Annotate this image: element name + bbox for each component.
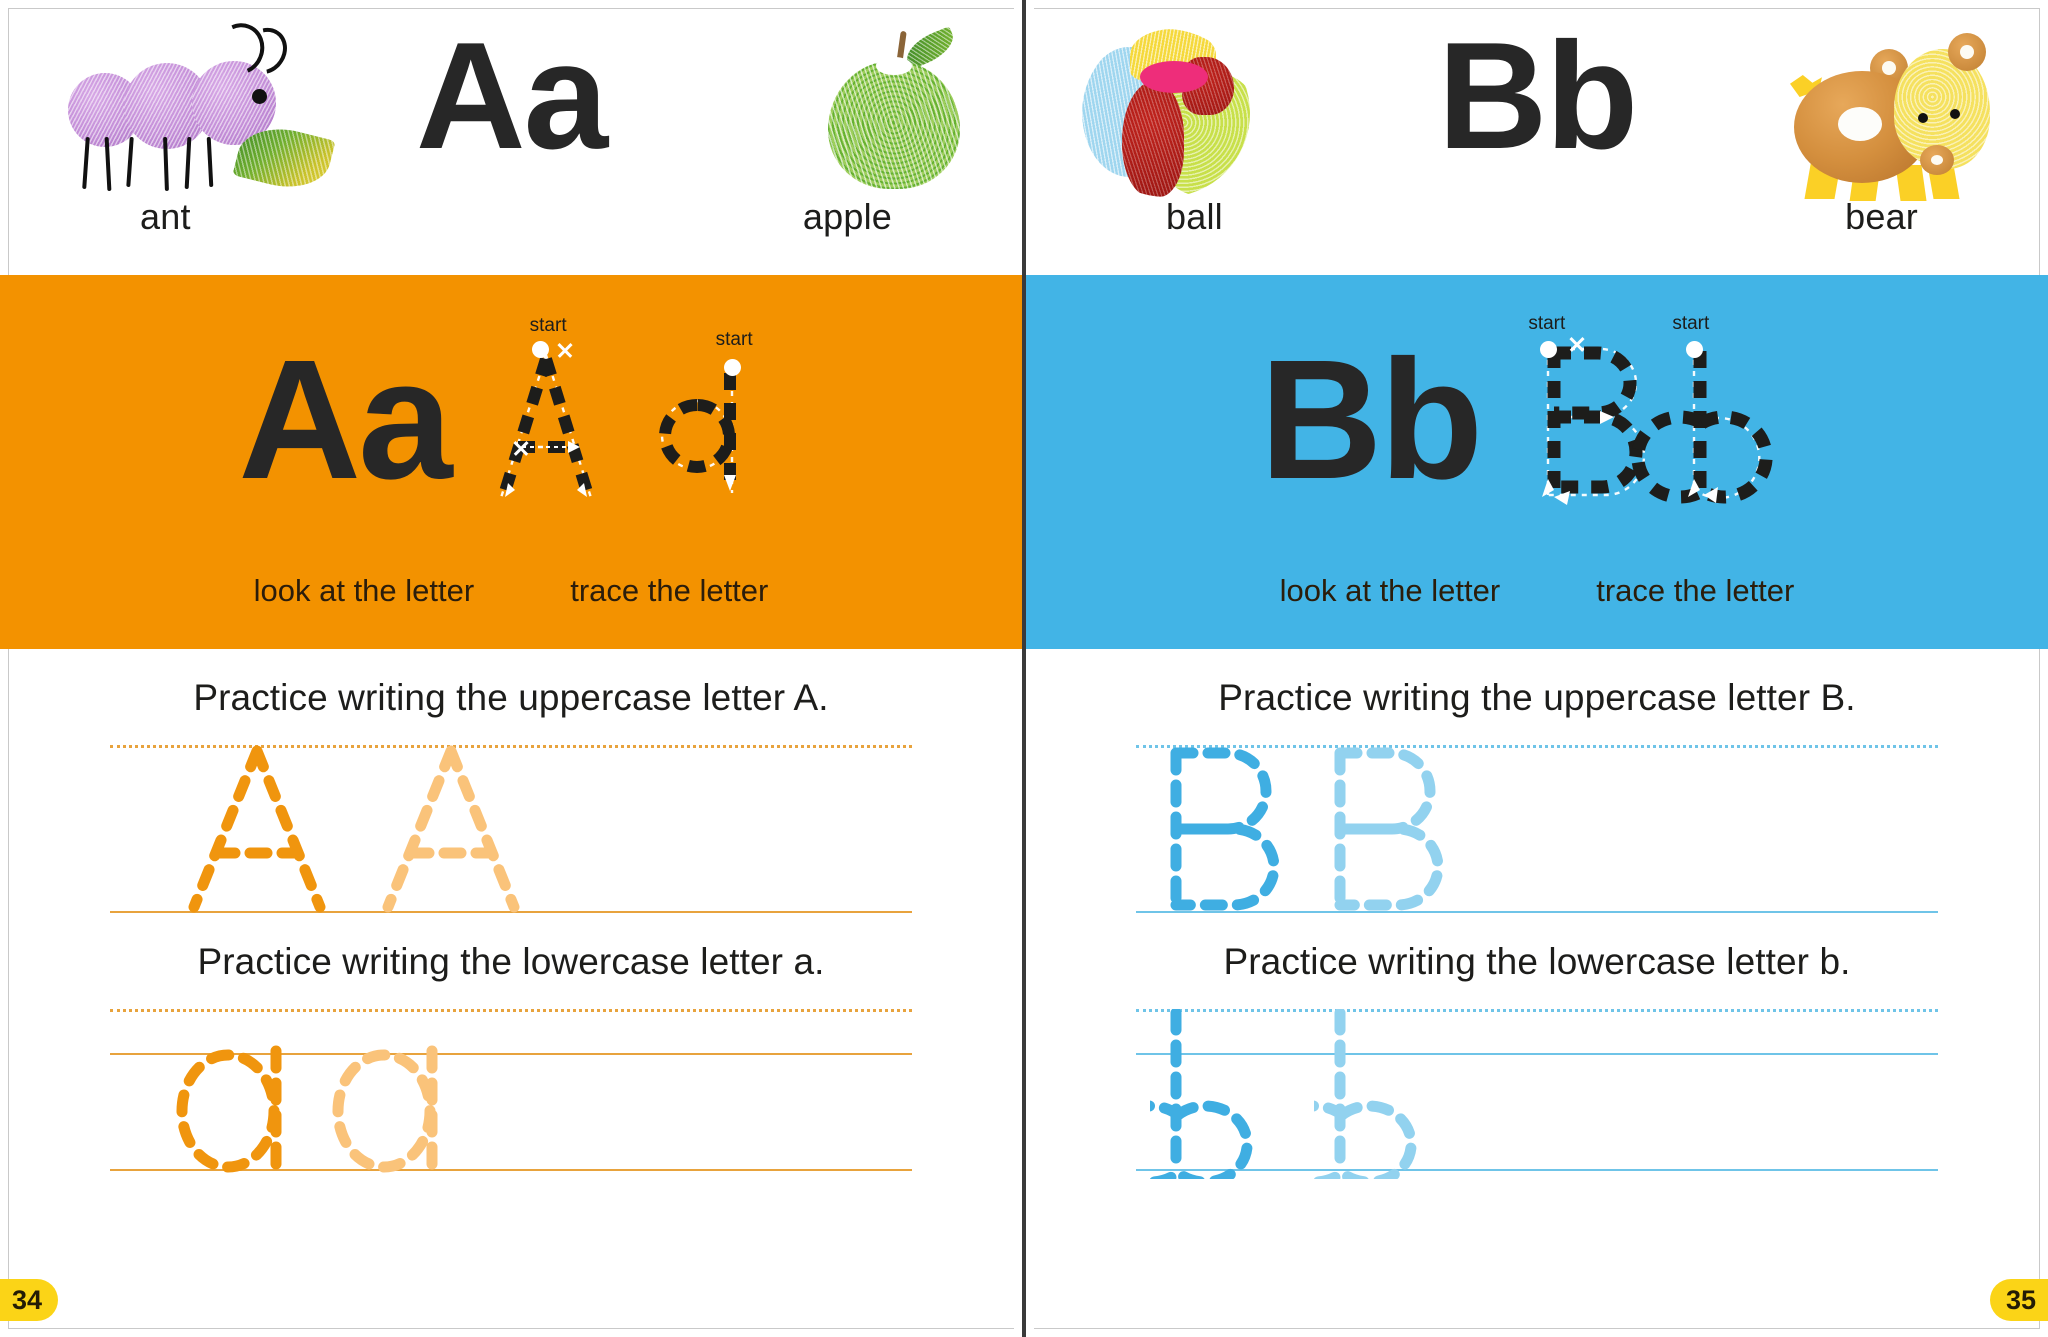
apple-illustration [820, 29, 970, 194]
page-number-badge-left: 34 [0, 1279, 58, 1321]
panel-big-letters-bb: Bb [1260, 335, 1481, 505]
bear-illustration [1790, 27, 2000, 195]
practice-uppercase-a: Practice writing the uppercase letter A. [0, 649, 1022, 913]
x-mark-uppercase-b [1568, 335, 1586, 353]
label-trace-the-letter-bb: trace the letter [1596, 573, 1794, 609]
x-mark-uppercase-a-crossbar [512, 439, 530, 457]
ant-illustration [66, 37, 296, 187]
panel-big-letters-aa: Aa [238, 335, 449, 505]
practice-uppercase-b: Practice writing the uppercase letter B. [1026, 649, 2048, 913]
header-bb: Bb [1026, 0, 2048, 275]
ant-picture [38, 5, 288, 195]
x-mark-uppercase-a [556, 341, 574, 359]
header-letter-bb: Bb [1438, 20, 1637, 172]
start-label-lowercase-b: start [1672, 313, 1709, 335]
caption-apple: apple [803, 196, 892, 238]
practice-lowercase-b: Practice writing the lowercase letter b. [1026, 913, 2048, 1187]
page-left-aa: Aa ant apple Aa [0, 0, 1024, 1337]
trace-glyph-lowercase-b-2[interactable] [1314, 1009, 1464, 1179]
trace-svg-bb [1514, 315, 1814, 525]
start-label-uppercase-b: start [1528, 313, 1565, 335]
ruled-line-box-lowercase-a[interactable] [110, 1009, 912, 1187]
start-dot-lowercase-a [724, 359, 741, 376]
workbook-spread: Aa ant apple Aa [0, 0, 2048, 1337]
practice-lowercase-a-title: Practice writing the lowercase letter a. [0, 913, 1022, 983]
trace-glyph-uppercase-b-1[interactable] [1150, 745, 1290, 913]
ball-picture [1064, 5, 1314, 195]
trace-glyph-uppercase-a-2[interactable] [366, 745, 536, 913]
color-panel-bb: Bb [1026, 275, 2048, 649]
caption-ball: ball [1166, 196, 1223, 238]
ruled-line-box-lowercase-b[interactable] [1136, 1009, 1938, 1187]
label-trace-the-letter-aa: trace the letter [570, 573, 768, 609]
color-panel-aa: Aa [0, 275, 1022, 649]
page-number-badge-right: 35 [1990, 1279, 2048, 1321]
trace-glyph-uppercase-b-2[interactable] [1314, 745, 1454, 913]
practice-uppercase-a-title: Practice writing the uppercase letter A. [0, 649, 1022, 719]
practice-lowercase-a: Practice writing the lowercase letter a. [0, 913, 1022, 1187]
label-look-at-the-letter-bb: look at the letter [1280, 573, 1501, 609]
header-aa: Aa ant apple [0, 0, 1022, 275]
trace-area-bb: start start [1514, 315, 1814, 525]
start-label-uppercase-a: start [530, 315, 567, 337]
practice-lowercase-b-title: Practice writing the lowercase letter b. [1026, 913, 2048, 983]
trace-glyph-lowercase-b-1[interactable] [1150, 1009, 1300, 1179]
practice-uppercase-b-title: Practice writing the uppercase letter B. [1026, 649, 2048, 719]
apple-picture [734, 5, 984, 195]
label-look-at-the-letter-aa: look at the letter [254, 573, 475, 609]
header-letter-aa: Aa [416, 20, 606, 172]
start-dot-uppercase-a [532, 341, 549, 358]
ruled-line-box-uppercase-b[interactable] [1136, 745, 1938, 913]
start-label-lowercase-a: start [716, 329, 753, 351]
caption-bear: bear [1845, 196, 1918, 238]
trace-glyph-lowercase-a-2[interactable] [328, 1045, 478, 1175]
trace-area-aa: start start [484, 315, 784, 525]
beach-ball-illustration [1082, 29, 1250, 197]
trace-glyph-lowercase-a-1[interactable] [172, 1045, 322, 1175]
page-right-bb: Bb [1024, 0, 2048, 1337]
caption-ant: ant [140, 196, 191, 238]
trace-glyph-uppercase-a-1[interactable] [172, 745, 342, 913]
bear-picture [1760, 5, 2010, 195]
ruled-line-box-uppercase-a[interactable] [110, 745, 912, 913]
